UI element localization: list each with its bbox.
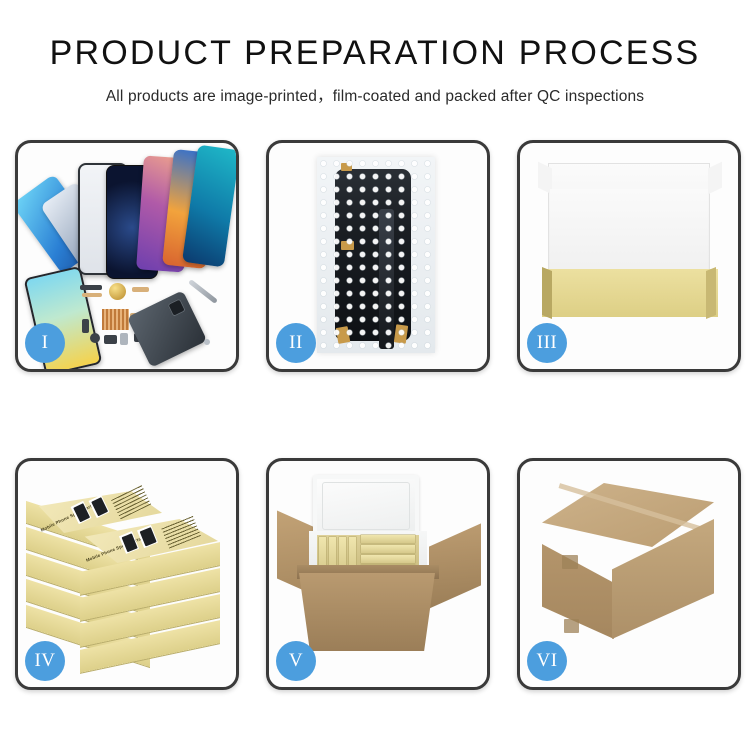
panel-step-2[interactable]: II xyxy=(266,140,490,372)
chip-grid-part xyxy=(102,309,129,330)
panel-step-1[interactable]: I xyxy=(15,140,239,372)
foam-lid-right-flap xyxy=(708,162,722,195)
process-panel-grid: I II III xyxy=(0,140,750,690)
panel-step-6[interactable]: VI xyxy=(517,458,741,690)
small-part-1 xyxy=(80,285,102,290)
wrapped-screen-part xyxy=(335,169,411,341)
foam-back-panel xyxy=(550,189,708,275)
panel-badge-1: I xyxy=(25,323,65,363)
panel-badge-5: V xyxy=(276,641,316,681)
carton-tab-top xyxy=(562,555,578,569)
phone-back-housing xyxy=(127,290,207,368)
yellow-box-right-edge xyxy=(706,267,716,319)
yellow-box-front xyxy=(542,269,718,317)
foam-lid-open xyxy=(313,475,419,537)
panel-badge-4: IV xyxy=(25,641,65,681)
page-header: PRODUCT PREPARATION PROCESS All products… xyxy=(0,0,750,106)
panel-step-4[interactable]: Mobile Phone Spare Parts Mobile Phone Sp… xyxy=(15,458,239,690)
carton-body xyxy=(299,573,435,651)
screw-part xyxy=(204,339,210,345)
tweezers-icon xyxy=(188,279,218,304)
panel-step-5[interactable]: V xyxy=(266,458,490,690)
inner-box-flat-1 xyxy=(361,535,415,543)
panel-step-3[interactable]: III xyxy=(517,140,741,372)
inner-box-flat-2 xyxy=(361,545,415,553)
flex-cable-2 xyxy=(132,287,149,292)
coil-part-icon xyxy=(109,283,126,300)
screen-flex-spine xyxy=(379,209,394,349)
small-part-2 xyxy=(90,333,100,343)
bubble-wrap-bag xyxy=(317,157,435,353)
small-part-3 xyxy=(104,335,117,344)
inner-box-flat-3 xyxy=(361,555,415,563)
panel-badge-2: II xyxy=(276,323,316,363)
flex-cable-1 xyxy=(82,293,102,297)
tape-piece-1 xyxy=(341,163,352,171)
tape-piece-4 xyxy=(394,324,408,343)
page-title: PRODUCT PREPARATION PROCESS xyxy=(0,36,750,72)
small-part-4 xyxy=(120,333,128,345)
yellow-box-left-edge xyxy=(542,267,552,319)
page-subtitle: All products are image-printed，film-coat… xyxy=(0,84,750,106)
small-part-5 xyxy=(82,319,89,333)
panel-badge-6: VI xyxy=(527,641,567,681)
panel-badge-3: III xyxy=(527,323,567,363)
tape-piece-3 xyxy=(336,326,351,344)
carton-tab-bottom xyxy=(564,619,579,633)
tape-piece-2 xyxy=(341,241,354,250)
